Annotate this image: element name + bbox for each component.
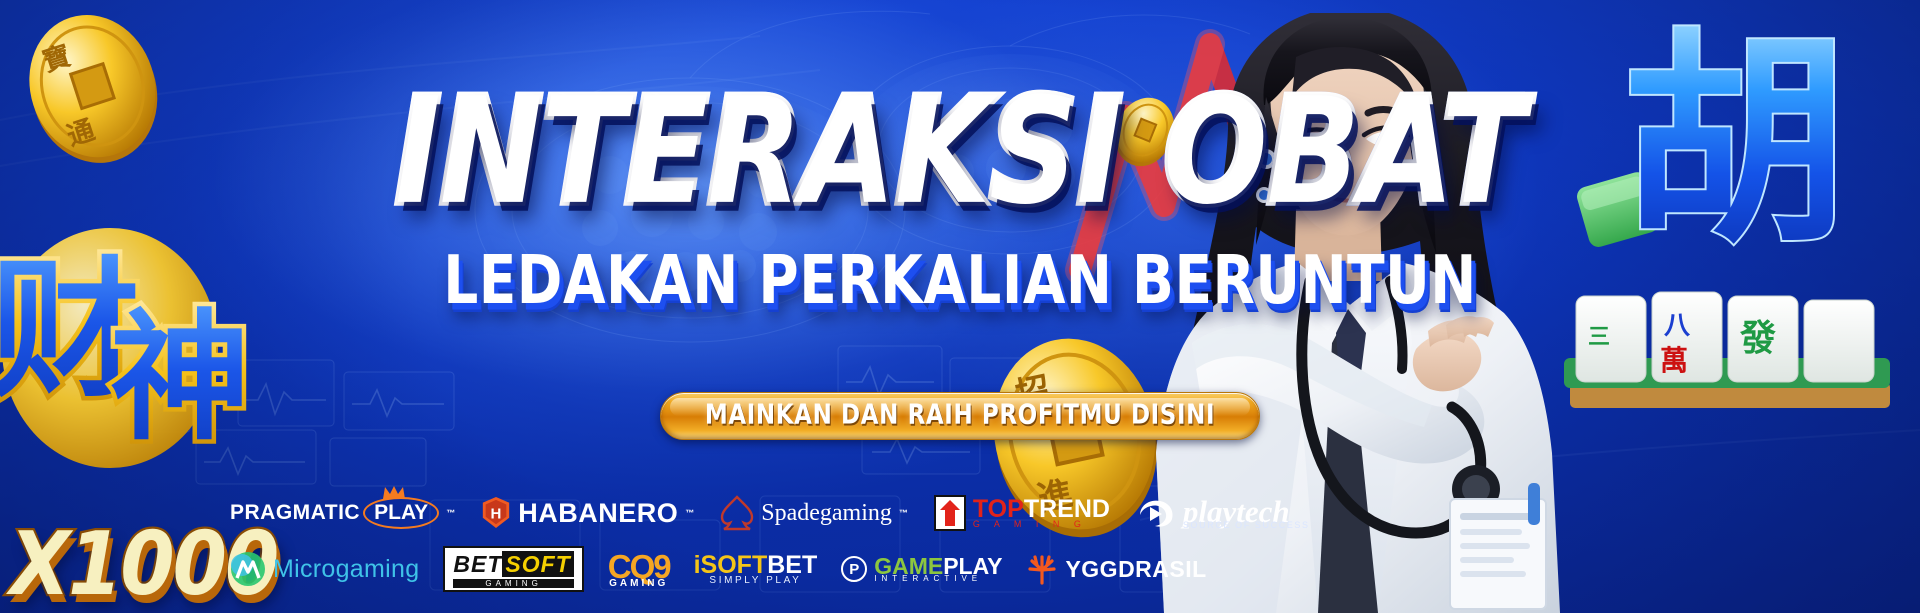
provider-logo-toptrend-gaming[interactable]: TOPTREND G A M I N G [934, 495, 1110, 531]
gold-coin-icon [1110, 92, 1180, 170]
habanero-name: HABANERO [518, 498, 678, 529]
provider-logo-isoftbet[interactable]: iSOFTBET SIMPLY PLAY [694, 553, 818, 586]
betsoft-tagline: GAMING [453, 579, 573, 588]
provider-row-1: PRAGMATIC PLAY ™ H HABANERO ™ [230, 486, 1040, 540]
betsoft-word2: SOFT [502, 551, 573, 577]
microgaming-name: Microgaming [273, 555, 419, 584]
provider-logo-habanero[interactable]: H HABANERO ™ [481, 497, 694, 529]
playtech-swoosh-icon [1136, 497, 1176, 529]
habanero-mark-icon: H [481, 497, 511, 529]
gold-coin-icon [1350, 22, 1404, 82]
yggdrasil-tree-icon [1026, 553, 1058, 585]
provider-logo-gameplay-interactive[interactable]: P GAMEPLAY INTERACTIVE [841, 555, 1002, 583]
gameplay-mark-icon: P [841, 556, 867, 582]
svg-text:三: 三 [1588, 325, 1610, 350]
provider-logo-pragmatic-play[interactable]: PRAGMATIC PLAY ™ [230, 497, 455, 529]
provider-logo-playtech[interactable]: playtech SOURCE OF SUCCESS [1136, 496, 1310, 530]
crown-icon [381, 485, 407, 501]
provider-logo-betsoft[interactable]: BETSOFT GAMING [443, 546, 583, 592]
spadegaming-tm: ™ [899, 508, 908, 518]
svg-text:寶: 寶 [39, 39, 75, 78]
page-title-text: INTERAKSI OBAT [395, 67, 1524, 237]
svg-text:H: H [491, 506, 502, 523]
spadegaming-name: Spadegaming [761, 500, 892, 527]
red-arrow-decoration [1060, 20, 1290, 320]
play-now-button[interactable]: MAINKAN DAN RAIH PROFITMU DISINI [660, 392, 1260, 440]
cq9-tagline: GAMING [608, 579, 670, 589]
promo-banner: 财 神 X1000 寶 通 [0, 0, 1920, 613]
pragmatic-play-word2: PLAY [363, 497, 439, 529]
play-now-button-label: MAINKAN DAN RAIH PROFITMU DISINI [705, 400, 1215, 431]
cta-container: MAINKAN DAN RAIH PROFITMU DISINI [0, 392, 1920, 440]
habanero-tm: ™ [685, 508, 694, 518]
betsoft-word1: BET [453, 551, 502, 577]
svg-text:八: 八 [1664, 311, 1691, 341]
right-chinese-character-art: 胡 [1612, 10, 1902, 270]
gameplay-tagline: INTERACTIVE [874, 575, 1002, 583]
provider-row-2: Microgaming BETSOFT GAMING CQ9 GAMING [230, 542, 1040, 596]
page-subtitle: LEDAKAN PERKALIAN BERUNTUN [0, 241, 1920, 319]
microgaming-mark-icon [230, 551, 266, 587]
toptrend-tagline: G A M I N G [973, 520, 1110, 529]
pragmatic-play-word1: PRAGMATIC [230, 501, 360, 525]
provider-logo-cq9-gaming[interactable]: CQ9 GAMING [608, 550, 670, 589]
yggdrasil-name: YGGDRASIL [1065, 556, 1206, 583]
right-character: 胡 [1622, 11, 1848, 270]
page-title: INTERAKSI OBAT [395, 86, 1524, 220]
svg-text:發: 發 [1739, 318, 1776, 359]
headline-group: INTERAKSI OBAT LEDAKAN PERKALIAN BERUNTU… [0, 86, 1920, 305]
svg-text:通: 通 [63, 115, 98, 153]
toptrend-mark-icon [934, 495, 966, 531]
provider-logos: PRAGMATIC PLAY ™ H HABANERO ™ [230, 486, 1040, 596]
spade-icon [720, 495, 754, 531]
gold-coin-icon: 寶 通 [18, 6, 168, 176]
isoftbet-tagline: SIMPLY PLAY [694, 576, 818, 586]
left-chinese-characters-art: 财 神 [0, 176, 252, 506]
pragmatic-play-tm: ™ [446, 508, 455, 518]
provider-logo-microgaming[interactable]: Microgaming [230, 551, 419, 587]
playtech-tagline: SOURCE OF SUCCESS [1183, 521, 1310, 530]
provider-logo-yggdrasil[interactable]: YGGDRASIL [1026, 553, 1206, 585]
svg-text:萬: 萬 [1660, 344, 1688, 377]
provider-logo-spadegaming[interactable]: Spadegaming ™ [720, 495, 908, 531]
